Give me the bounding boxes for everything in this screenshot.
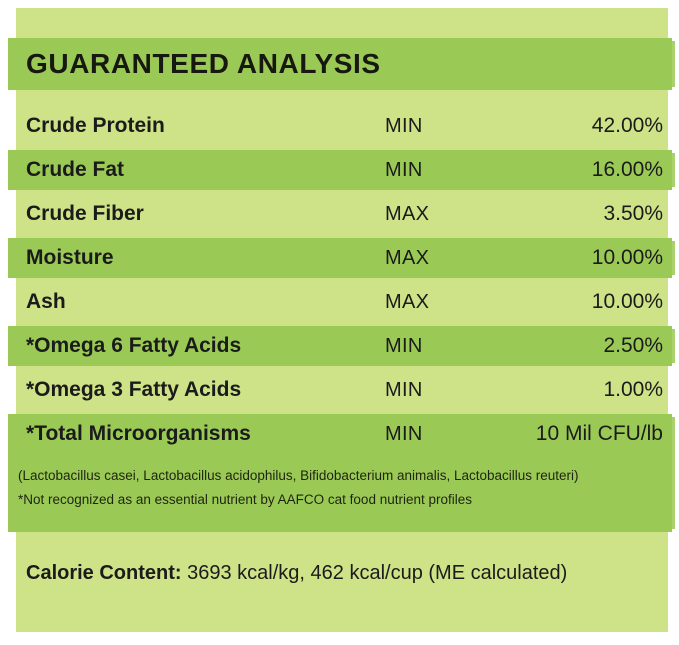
nutrient-value: 3.50% — [603, 192, 663, 236]
nutrient-value: 2.50% — [603, 324, 663, 368]
nutrient-qualifier: MAX — [385, 280, 429, 324]
nutrient-name: *Omega 3 Fatty Acids — [26, 368, 241, 412]
table-row: Crude Fiber MAX 3.50% — [0, 192, 679, 236]
nutrient-name: Crude Fiber — [26, 192, 144, 236]
nutrient-qualifier: MIN — [385, 148, 423, 192]
table-row: Crude Fat MIN 16.00% — [0, 148, 679, 192]
nutrient-qualifier: MAX — [385, 192, 429, 236]
nutrient-qualifier: MAX — [385, 236, 429, 280]
table-row: *Omega 6 Fatty Acids MIN 2.50% — [0, 324, 679, 368]
page-title: GUARANTEED ANALYSIS — [26, 38, 381, 90]
table-row: *Total Microorganisms MIN 10 Mil CFU/lb — [0, 412, 679, 456]
calorie-content-value: 3693 kcal/kg, 462 kcal/cup (ME calculate… — [182, 562, 568, 584]
table-row: *Omega 3 Fatty Acids MIN 1.00% — [0, 368, 679, 412]
cultures-footnote: (Lactobacillus casei, Lactobacillus acid… — [18, 468, 579, 483]
nutrient-value: 42.00% — [592, 104, 663, 148]
table-row: Moisture MAX 10.00% — [0, 236, 679, 280]
nutrient-name: Crude Protein — [26, 104, 165, 148]
nutrient-name: Ash — [26, 280, 66, 324]
nutrient-name: Moisture — [26, 236, 114, 280]
nutrient-value: 10.00% — [592, 236, 663, 280]
calorie-content-label: Calorie Content: — [26, 562, 182, 584]
nutrient-qualifier: MIN — [385, 324, 423, 368]
nutrient-name: Crude Fat — [26, 148, 124, 192]
nutrient-qualifier: MIN — [385, 368, 423, 412]
nutrient-value: 16.00% — [592, 148, 663, 192]
table-row: Crude Protein MIN 42.00% — [0, 104, 679, 148]
nutrient-name: *Omega 6 Fatty Acids — [26, 324, 241, 368]
table-row: Ash MAX 10.00% — [0, 280, 679, 324]
nutrient-qualifier: MIN — [385, 412, 423, 456]
guaranteed-analysis-label: GUARANTEED ANALYSIS Crude Protein MIN 42… — [0, 0, 679, 645]
nutrient-name: *Total Microorganisms — [26, 412, 251, 456]
aafco-footnote: *Not recognized as an essential nutrient… — [18, 492, 472, 507]
nutrient-qualifier: MIN — [385, 104, 423, 148]
nutrient-value: 10 Mil CFU/lb — [536, 412, 663, 456]
calorie-content-line: Calorie Content: 3693 kcal/kg, 462 kcal/… — [26, 562, 567, 585]
nutrient-value: 1.00% — [603, 368, 663, 412]
nutrient-value: 10.00% — [592, 280, 663, 324]
